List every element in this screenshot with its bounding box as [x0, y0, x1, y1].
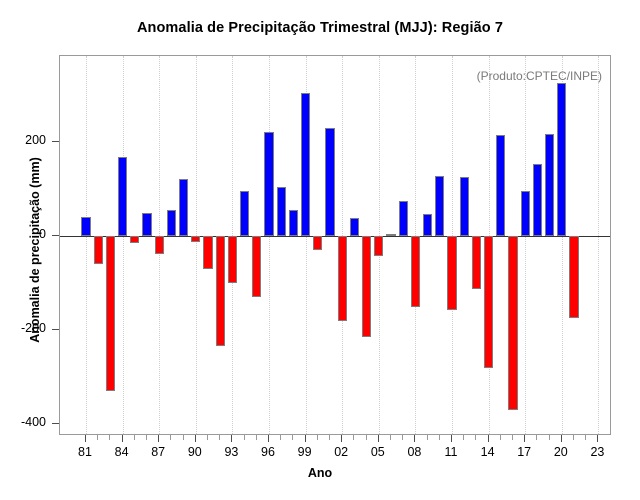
x-tick-mark — [353, 435, 354, 440]
gridline — [123, 56, 124, 434]
bar-1991 — [203, 236, 212, 269]
y-tick-label: 200 — [0, 133, 46, 147]
bar-1989 — [179, 179, 188, 236]
x-tick-mark — [463, 435, 464, 440]
x-tick-label: 08 — [399, 445, 429, 459]
source-annotation: (Produto:CPTEC/INPE) — [477, 69, 602, 83]
x-tick-label: 20 — [546, 445, 576, 459]
x-tick-label: 23 — [582, 445, 612, 459]
x-tick-label: 17 — [509, 445, 539, 459]
bar-1984 — [118, 157, 127, 236]
x-tick-mark — [329, 435, 330, 440]
x-tick-mark — [207, 435, 208, 440]
x-tick-mark — [451, 435, 452, 442]
gridline — [598, 56, 599, 434]
bar-1983 — [106, 236, 115, 391]
gridline — [269, 56, 270, 434]
x-tick-mark — [85, 435, 86, 442]
y-tick-mark — [52, 235, 59, 236]
x-tick-label: 93 — [216, 445, 246, 459]
y-tick-mark — [52, 423, 59, 424]
bar-1998 — [289, 210, 298, 236]
x-tick-mark — [170, 435, 171, 440]
bar-1992 — [216, 236, 225, 346]
bar-2016 — [508, 236, 517, 410]
x-tick-mark — [500, 435, 501, 440]
x-tick-mark — [122, 435, 123, 442]
x-tick-mark — [475, 435, 476, 440]
x-tick-mark — [573, 435, 574, 440]
x-tick-mark — [268, 435, 269, 442]
x-tick-mark — [427, 435, 428, 440]
x-tick-label: 96 — [253, 445, 283, 459]
gridline — [196, 56, 197, 434]
y-tick-label: -200 — [0, 321, 46, 335]
bar-1985 — [130, 236, 139, 243]
bar-1997 — [277, 187, 286, 236]
x-tick-label: 90 — [180, 445, 210, 459]
zero-baseline — [60, 236, 610, 237]
x-tick-mark — [585, 435, 586, 440]
x-tick-mark — [219, 435, 220, 440]
x-tick-mark — [183, 435, 184, 440]
gridline — [525, 56, 526, 434]
x-tick-label: 02 — [326, 445, 356, 459]
x-tick-label: 14 — [473, 445, 503, 459]
gridline — [86, 56, 87, 434]
x-tick-label: 05 — [363, 445, 393, 459]
chart-title: Anomalia de Precipitação Trimestral (MJJ… — [0, 20, 640, 36]
bar-2011 — [447, 236, 456, 310]
bar-1995 — [252, 236, 261, 297]
x-tick-mark — [97, 435, 98, 440]
bar-1982 — [94, 236, 103, 264]
x-tick-mark — [390, 435, 391, 440]
x-tick-mark — [378, 435, 379, 442]
bar-2006 — [386, 234, 395, 236]
x-tick-mark — [524, 435, 525, 442]
x-tick-mark — [512, 435, 513, 440]
bar-1987 — [155, 236, 164, 254]
bar-2020 — [557, 83, 566, 236]
x-tick-mark — [109, 435, 110, 440]
x-tick-mark — [536, 435, 537, 440]
x-tick-mark — [256, 435, 257, 440]
x-tick-mark — [341, 435, 342, 442]
x-tick-mark — [317, 435, 318, 440]
x-tick-mark — [195, 435, 196, 442]
x-tick-mark — [280, 435, 281, 440]
x-tick-label: 81 — [70, 445, 100, 459]
x-tick-mark — [439, 435, 440, 440]
bar-1981 — [81, 217, 90, 236]
bar-2005 — [374, 236, 383, 256]
bar-2015 — [496, 135, 505, 236]
x-tick-mark — [305, 435, 306, 442]
bar-2014 — [484, 236, 493, 368]
bar-1993 — [228, 236, 237, 283]
bar-1990 — [191, 236, 200, 242]
bar-2018 — [533, 164, 542, 236]
bar-2012 — [460, 177, 469, 236]
y-tick-mark — [52, 141, 59, 142]
plot-area: (Produto:CPTEC/INPE) — [59, 55, 611, 435]
x-tick-label: 84 — [107, 445, 137, 459]
bar-2017 — [521, 191, 530, 236]
bar-2021 — [569, 236, 578, 318]
bar-2009 — [423, 214, 432, 236]
bar-1999 — [301, 93, 310, 236]
bar-1988 — [167, 210, 176, 236]
bar-2008 — [411, 236, 420, 307]
x-tick-mark — [561, 435, 562, 442]
y-axis-title: Anomalia de precipitação (mm) — [28, 60, 42, 440]
bar-2004 — [362, 236, 371, 337]
y-tick-label: 0 — [0, 227, 46, 241]
y-tick-mark — [52, 329, 59, 330]
x-tick-mark — [366, 435, 367, 440]
bar-2001 — [325, 128, 334, 236]
bar-2013 — [472, 236, 481, 289]
x-tick-mark — [134, 435, 135, 440]
x-tick-label: 11 — [436, 445, 466, 459]
bar-2019 — [545, 134, 554, 236]
precipitation-anomaly-chart: Anomalia de Precipitação Trimestral (MJJ… — [0, 0, 640, 500]
bar-1996 — [264, 132, 273, 236]
bar-2007 — [399, 201, 408, 236]
x-tick-label: 99 — [290, 445, 320, 459]
bar-1986 — [142, 213, 151, 236]
x-tick-label: 87 — [143, 445, 173, 459]
y-tick-label: -400 — [0, 415, 46, 429]
x-tick-mark — [158, 435, 159, 442]
bar-2010 — [435, 176, 444, 236]
bar-2003 — [350, 218, 359, 236]
x-tick-mark — [292, 435, 293, 440]
x-tick-mark — [597, 435, 598, 442]
x-tick-mark — [549, 435, 550, 440]
x-axis-title: Ano — [0, 466, 640, 480]
x-tick-mark — [146, 435, 147, 440]
x-tick-mark — [244, 435, 245, 440]
bar-2000 — [313, 236, 322, 250]
x-tick-mark — [488, 435, 489, 442]
bar-1994 — [240, 191, 249, 236]
bar-2002 — [338, 236, 347, 321]
x-tick-mark — [402, 435, 403, 440]
x-tick-mark — [231, 435, 232, 442]
x-tick-mark — [414, 435, 415, 442]
